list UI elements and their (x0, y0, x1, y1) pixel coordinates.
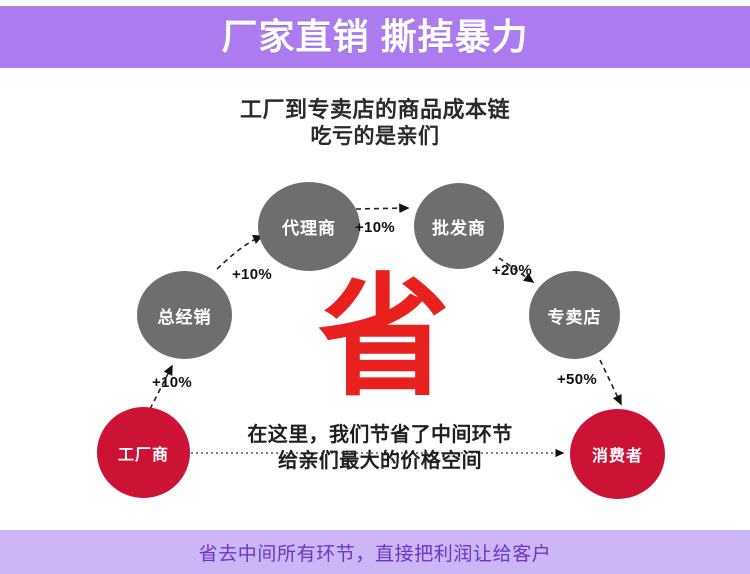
node-label: 批发商 (432, 214, 486, 239)
center-message-line-1: 在这里，我们节省了中间环节 (205, 422, 555, 448)
node-label: 总经销 (158, 303, 212, 328)
node-xiaofeizhe[interactable]: 消费者 (570, 409, 665, 499)
edge-label-wholesaler-to-store: +20% (492, 262, 532, 279)
node-zongjingxiao[interactable]: 总经销 (137, 271, 232, 359)
node-label: 工厂商 (118, 441, 169, 465)
edge-label-store-to-consumer: +50% (557, 371, 597, 388)
edge-distributor-to-agent (217, 236, 262, 269)
node-zhuanmaidian[interactable]: 专卖店 (529, 271, 620, 359)
cost-chain-diagram: 工厂商 总经销 代理商 批发商 专卖店 消费者 +10% +10% +10% +… (0, 0, 750, 574)
footer-banner: 省去中间所有环节，直接把利润让给客户 (0, 530, 750, 574)
edge-label-factory-to-distributor: +10% (152, 374, 192, 391)
promo-poster: 厂家直销 撕掉暴力 工厂到专卖店的商品成本链 吃亏的是亲们 (0, 0, 750, 574)
node-label: 消费者 (592, 442, 643, 466)
node-label: 专卖店 (548, 303, 602, 328)
footer-text: 省去中间所有环节，直接把利润让给客户 (199, 539, 552, 566)
node-pifashang[interactable]: 批发商 (414, 183, 504, 269)
node-gongchangshang[interactable]: 工厂商 (97, 407, 190, 498)
center-message-line-2: 给亲们最大的价格空间 (205, 448, 555, 474)
edge-store-to-consumer (600, 360, 621, 404)
edge-agent-to-wholesaler (356, 208, 408, 209)
edge-label-distributor-to-agent: +10% (232, 266, 272, 283)
big-save-character: 省 (318, 272, 448, 404)
edge-label-agent-to-wholesaler: +10% (355, 219, 395, 236)
node-label: 代理商 (282, 214, 336, 239)
center-message-block: 在这里，我们节省了中间环节 给亲们最大的价格空间 (205, 422, 555, 474)
node-dailishang[interactable]: 代理商 (258, 182, 360, 271)
